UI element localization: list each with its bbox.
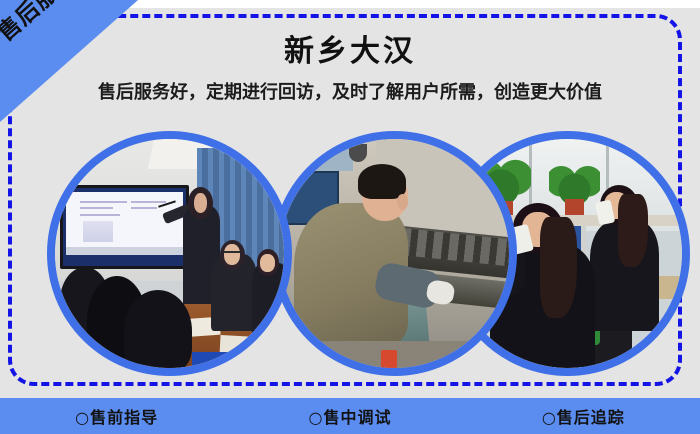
screen-content xyxy=(66,192,182,254)
service-stage-installation: ○售中调试 xyxy=(309,404,392,428)
worker-hair xyxy=(358,164,406,198)
workshop-window xyxy=(317,144,354,171)
screen-text-line xyxy=(131,201,166,203)
service-stage-presales: ○售前指导 xyxy=(75,404,158,428)
attendee-face xyxy=(260,254,275,272)
blue-notebook xyxy=(192,352,238,368)
screen-text-line xyxy=(80,207,113,209)
screen-text-line xyxy=(131,207,157,209)
screen-chart xyxy=(83,221,113,242)
screen-taskbar xyxy=(66,247,182,255)
attendee-face xyxy=(224,244,240,265)
photo-equipment-debugging xyxy=(280,139,509,368)
eyeglasses xyxy=(224,251,240,253)
staff-hair xyxy=(618,194,648,267)
page-subtitle: 售后服务好，定期进行回访，及时了解用户所需，创造更大价值 xyxy=(0,78,700,104)
red-bottle xyxy=(381,350,397,368)
screen-text-line xyxy=(80,201,126,203)
attendee-back-head xyxy=(124,290,193,368)
service-stages-bar: ○售前指导 ○售中调试 ○售后追踪 xyxy=(0,398,700,434)
screen-text-line xyxy=(80,214,120,216)
circle-photo-debugging xyxy=(272,131,517,376)
service-stage-followup: ○售后追踪 xyxy=(542,404,625,428)
photo-training-meeting xyxy=(55,139,284,368)
circle-photo-training xyxy=(47,131,292,376)
after-sales-service-banner: 售后服务好 新乡大汉 售后服务好，定期进行回访，及时了解用户所需，创造更大价值 xyxy=(0,0,700,434)
staff-hair xyxy=(540,217,577,318)
worker-ear xyxy=(397,194,408,210)
presentation-screen xyxy=(60,185,190,269)
flower-pot xyxy=(565,199,583,215)
work-lamp xyxy=(349,144,367,162)
page-title: 新乡大汉 xyxy=(0,26,700,70)
